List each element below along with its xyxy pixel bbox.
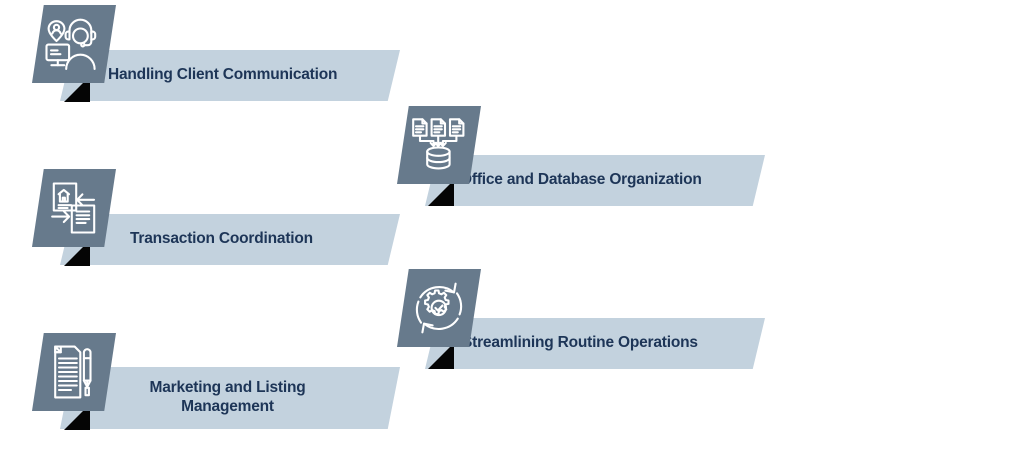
document-and-pen-icon bbox=[46, 344, 102, 400]
icon-tile-5[interactable] bbox=[32, 333, 116, 411]
banner-2[interactable]: Office and Database Organization bbox=[425, 155, 765, 206]
banner-4[interactable]: Streamlining Routine Operations bbox=[425, 318, 765, 369]
banner-label-4: Streamlining Routine Operations bbox=[462, 334, 698, 353]
banner-1[interactable]: Handling Client Communication bbox=[60, 50, 400, 101]
gear-check-refresh-icon bbox=[410, 279, 468, 337]
banner-3[interactable]: Transaction Coordination bbox=[60, 214, 400, 265]
headset-agent-monitor-icon bbox=[44, 17, 104, 71]
icon-tile-1[interactable] bbox=[32, 5, 116, 83]
banner-label-3: Transaction Coordination bbox=[130, 230, 313, 249]
banner-label-5: Marketing and Listing Management bbox=[120, 379, 335, 417]
banner-label-2: Office and Database Organization bbox=[460, 171, 702, 190]
banner-label-1: Handling Client Communication bbox=[108, 66, 337, 85]
diagram-canvas: Handling Client Communication bbox=[0, 0, 1024, 451]
icon-tile-3[interactable] bbox=[32, 169, 116, 247]
document-exchange-arrows-icon bbox=[46, 181, 102, 235]
icon-tile-4[interactable] bbox=[397, 269, 481, 347]
icon-tile-2[interactable] bbox=[397, 106, 481, 184]
banner-5[interactable]: Marketing and Listing Management bbox=[60, 367, 400, 429]
documents-to-database-icon bbox=[410, 117, 468, 173]
